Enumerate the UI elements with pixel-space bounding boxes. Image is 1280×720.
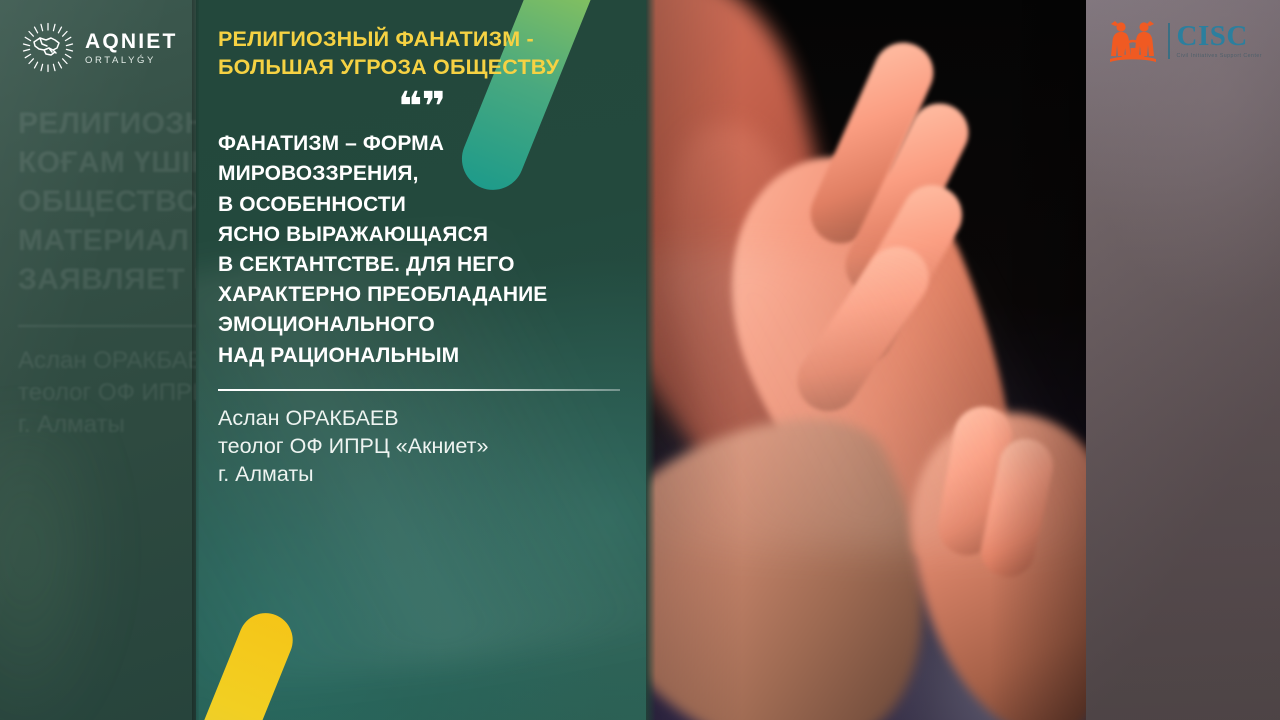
quote-line: ХАРАКТЕРНО ПРЕОБЛАДАНИЕ: [218, 280, 624, 310]
quote-line: ФАНАТИЗМ – ФОРМА: [218, 129, 624, 159]
quote-line: ЯСНО ВЫРАЖАЮЩАЯСЯ: [218, 220, 624, 250]
previous-slide-ghost-panel: РЕЛИГИОЗНЫЙ ФАНАТИЗМ КОҒАМ ҮШІН ҮЛКЕН ҚА…: [0, 0, 196, 720]
quote-card: РЕЛИГИОЗНЫЙ ФАНАТИЗМ - БОЛЬШАЯ УГРОЗА ОБ…: [196, 0, 646, 720]
presentation-slide: РЕЛИГИОЗНЫЙ ФАНАТИЗМ КОҒАМ ҮШІН ҮЛКЕН ҚА…: [0, 0, 1280, 720]
aqniet-name: AQNIET: [85, 31, 178, 52]
ghost-divider: [18, 325, 196, 327]
ghost-attribution-line-3: г. Алматы: [18, 409, 196, 441]
handshake-rays-icon: [22, 22, 74, 74]
attribution-divider: [218, 389, 620, 391]
quote-line: НАД РАЦИОНАЛЬНЫМ: [218, 341, 624, 371]
ghost-headline: РЕЛИГИОЗНЫЙ ФАНАТИЗМ КОҒАМ ҮШІН ҮЛКЕН ҚА…: [18, 104, 196, 299]
ghost-content: РЕЛИГИОЗНЫЙ ФАНАТИЗМ КОҒАМ ҮШІН ҮЛКЕН ҚА…: [18, 104, 196, 441]
quote-line: В ОСОБЕННОСТИ: [218, 190, 624, 220]
panel-seam: [192, 0, 199, 720]
aqniet-logo: AQNIET ORTALYǴY: [22, 22, 178, 74]
quote-line: МИРОВОЗЗРЕНИЯ,: [218, 159, 624, 189]
cisc-name: CISC: [1177, 22, 1262, 51]
aqniet-logo-text: AQNIET ORTALYǴY: [85, 31, 178, 66]
quote-text: ФАНАТИЗМ – ФОРМА МИРОВОЗЗРЕНИЯ, В ОСОБЕН…: [218, 129, 624, 371]
photo-left-edge-blend: [646, 0, 656, 720]
cisc-logo-text: CISC Civil Initiatives Support Center: [1177, 22, 1262, 59]
speaker-city: г. Алматы: [218, 461, 624, 489]
ghost-attribution-line-2: теолог ОФ ИПРЦ «Акниет»: [18, 377, 196, 409]
quotation-mark-icon: ❝❞: [218, 97, 624, 117]
yellow-diagonal-stripe: [196, 605, 301, 720]
cisc-logo: CISC Civil Initiatives Support Center: [1105, 18, 1262, 64]
ghost-attribution-line-1: Аслан ОРАКБАЕВ: [18, 345, 196, 377]
card-content: РЕЛИГИОЗНЫЙ ФАНАТИЗМ - БОЛЬШАЯ УГРОЗА ОБ…: [196, 0, 646, 489]
quote-line: В СЕКТАНТСТВЕ. ДЛЯ НЕГО: [218, 250, 624, 280]
cisc-subtitle: Civil Initiatives Support Center: [1177, 54, 1262, 59]
right-side-panel: [1086, 0, 1280, 720]
two-figures-house-icon: [1105, 18, 1161, 64]
slide-headline: РЕЛИГИОЗНЫЙ ФАНАТИЗМ - БОЛЬШАЯ УГРОЗА ОБ…: [218, 26, 624, 81]
ghost-glow: [0, 420, 120, 720]
cisc-logo-divider: [1168, 23, 1170, 59]
speaker-name: Аслан ОРАКБАЕВ: [218, 405, 624, 433]
speaker-role: теолог ОФ ИПРЦ «Акниет»: [218, 433, 624, 461]
clapping-hands-photo: [646, 0, 1086, 720]
aqniet-subtitle: ORTALYǴY: [85, 56, 178, 66]
quotation-mark-glyph: ❝❞: [397, 97, 444, 117]
quote-line: ЭМОЦИОНАЛЬНОГО: [218, 310, 624, 340]
speaker-attribution: Аслан ОРАКБАЕВ теолог ОФ ИПРЦ «Акниет» г…: [218, 405, 624, 489]
